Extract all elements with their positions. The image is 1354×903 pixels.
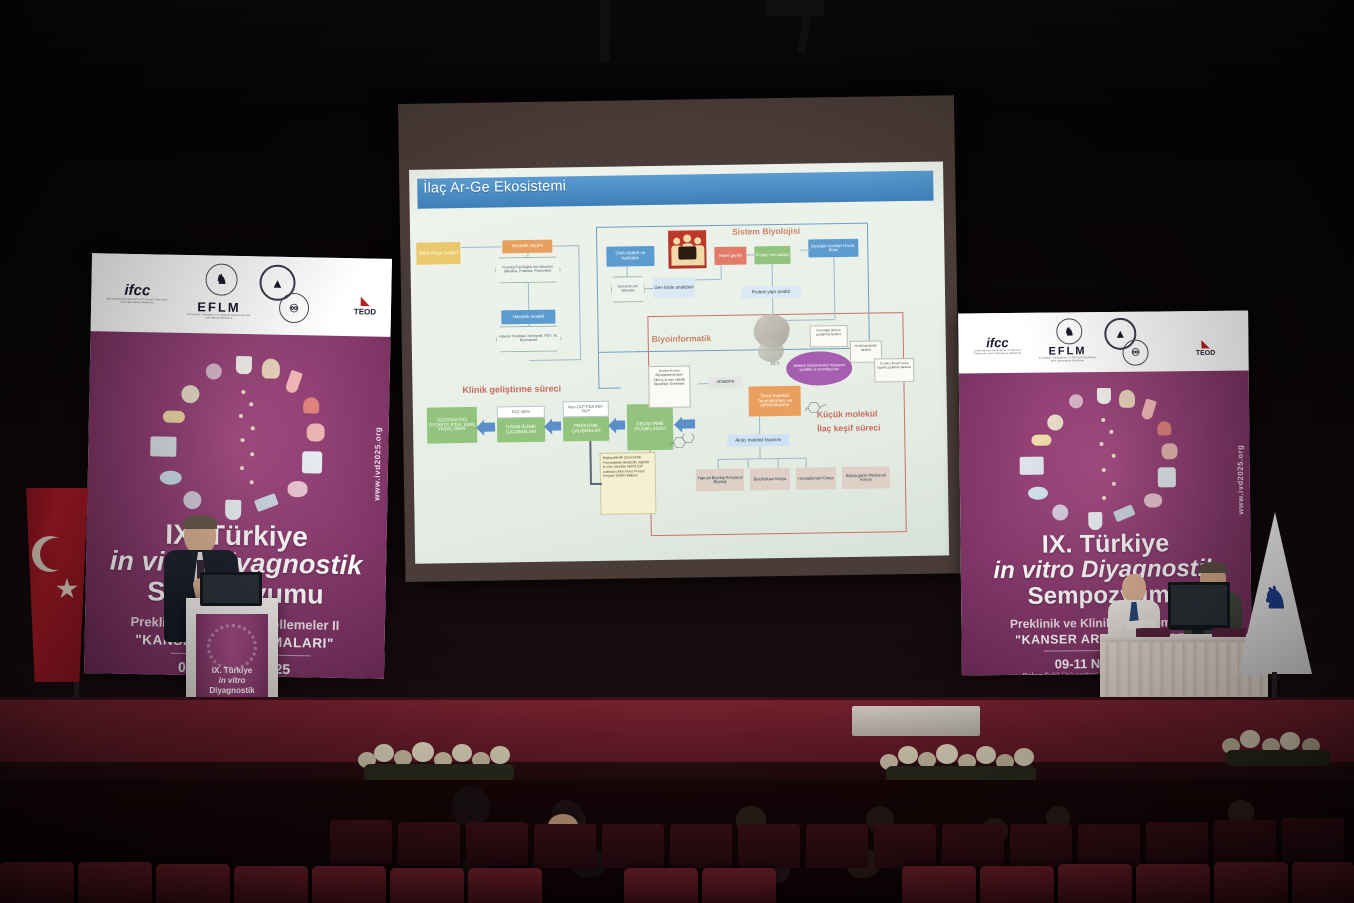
note-preklinik-properties: Başlayabilirlik Çözünürlük Permeabilite …	[600, 452, 657, 515]
biyokimya-logo: ♾	[1122, 340, 1148, 366]
node-protein-yapi: Protein yapı analizi	[741, 286, 801, 299]
seat	[156, 864, 230, 903]
arrow-left	[615, 420, 625, 429]
helix-dot	[240, 466, 244, 470]
connector	[806, 458, 807, 468]
seat	[942, 824, 1004, 868]
ring-icon-scientist	[1119, 390, 1135, 408]
university-horse-emblem: ♞	[1262, 584, 1289, 614]
protein-structure-blob-2	[758, 340, 784, 362]
note-invitro: İn vitro-İn vivo Biyoparametrelerin Klin…	[648, 365, 691, 408]
seat	[602, 824, 664, 868]
helix-dot	[1112, 482, 1116, 486]
helix-dot	[249, 402, 253, 406]
floral-arrangement-left	[354, 740, 524, 782]
flower	[452, 744, 472, 762]
helix-dot	[1102, 496, 1106, 500]
node-hastalik-modeli: Hastalık modeli	[501, 310, 555, 325]
foliage	[1226, 750, 1330, 766]
connector	[645, 288, 653, 289]
chair-woman-head	[1122, 574, 1146, 602]
connector	[778, 458, 779, 468]
flower	[490, 746, 510, 764]
ring-icon-atom	[183, 491, 201, 509]
connector	[627, 266, 628, 276]
seat	[806, 824, 868, 868]
flower	[1240, 730, 1260, 748]
ring-icon-testtube	[1140, 398, 1156, 420]
seat	[1214, 862, 1288, 903]
seat	[390, 868, 464, 903]
node-biyolojik-ornekler: Biyolojik örnekler Hücre, Doku	[808, 239, 858, 258]
teod-logo: ◣ TEOD	[347, 290, 384, 321]
seat	[234, 866, 308, 903]
bottom-box: Biyoorganik Medisinal Kimya	[842, 466, 890, 489]
teod-logo: ◣ TEOD	[1188, 335, 1222, 361]
bottom-box: Biyofiziksel Kimya	[750, 468, 790, 491]
ceiling-beam	[600, 0, 610, 62]
bottom-box: Yapısal Biyoloji Kimyasal Biyoloji	[696, 469, 744, 492]
seat	[1078, 824, 1140, 868]
flower	[976, 746, 996, 764]
hex-genomik: Genomik veri tabanları	[611, 276, 645, 303]
connector	[552, 245, 579, 246]
node-klinik-pazar: Klinik Pazar Değeri	[416, 242, 460, 265]
node-faz-label: FAZ I/II/III	[497, 406, 545, 419]
seat	[78, 862, 152, 903]
podium-sign-title-1: IX. Türkiye	[196, 666, 268, 675]
node-dna-dizileri: DNA dizileri ve haritaları	[606, 246, 654, 267]
seat	[902, 866, 976, 903]
seat	[534, 824, 596, 868]
connector	[529, 359, 581, 361]
arrow-left	[551, 421, 561, 430]
node-protein-veri: Protein Veri tabanı	[754, 246, 790, 265]
ceiling-beam	[766, 0, 824, 16]
podium-sign-icon-ring	[207, 624, 257, 670]
flower	[1280, 732, 1300, 750]
connector	[746, 254, 754, 255]
bottom-box: Hesaplamalı Kimya	[796, 467, 836, 490]
ring-icon-molecule	[1047, 414, 1063, 430]
floral-arrangement-far-right	[1218, 728, 1338, 766]
helix-dot	[241, 390, 245, 394]
helix-dot	[1109, 430, 1113, 434]
seat	[330, 820, 392, 864]
seat	[624, 868, 698, 903]
helix-dot	[1112, 454, 1116, 458]
eflm-logo: EFLM European Federation of Clinical Che…	[1036, 344, 1098, 365]
node-oncu-molekul: Öncü molekül Tanımlanması ve optimizasyo…	[748, 386, 800, 417]
dokuz-eylul-logo: ♞	[1056, 318, 1082, 344]
ring-icon-brain	[287, 481, 307, 497]
chair-man-hair	[1199, 562, 1227, 573]
banner-url: www.ivd2025.org	[1236, 445, 1246, 515]
connector	[528, 283, 529, 310]
biyokimya-logo: ♾	[279, 293, 310, 324]
seat	[1292, 862, 1354, 903]
helix-dot	[1102, 468, 1106, 472]
hex-hayvan: Hayvan modelleri Xenograft, PDX, vb. Biy…	[496, 325, 562, 352]
connector	[718, 459, 719, 469]
seat	[1136, 864, 1210, 903]
helix-dot	[239, 414, 243, 418]
helix-dot	[1099, 442, 1103, 446]
floral-arrangement-right	[876, 742, 1046, 784]
ring-icon-microscope	[1158, 467, 1176, 487]
ring-icon-lungs	[1161, 443, 1177, 459]
node-preklinik: PREKLİNİK ÇALIŞMALAR	[563, 417, 609, 442]
eflm-logo: EFLM European Federation of Clinical Che…	[183, 297, 255, 322]
connector	[589, 441, 592, 485]
node-non-glp: Non-GLP FDA IND-GLP	[563, 401, 609, 418]
podium-sign-title-2: in vitro	[196, 676, 268, 685]
ring-icon-pills	[163, 411, 185, 423]
ring-icon-atom	[1052, 504, 1068, 520]
podium-laptop-screen	[203, 575, 259, 603]
node-akilci-molekul: Akılcı molekül tasarımı	[727, 434, 789, 447]
ceiling	[0, 0, 1354, 110]
slide-title: İlaç Ar-Ge Ekosistemi	[423, 178, 566, 196]
seat	[1282, 818, 1344, 862]
projection-screen: İlaç Ar-Ge Ekosistemi Klinik Pazar Değer…	[398, 95, 961, 582]
ring-icon-eye	[1028, 487, 1048, 500]
seat	[1058, 864, 1132, 903]
research-team-photo-icon	[668, 230, 707, 269]
molecule-structure-icon-2	[805, 399, 829, 415]
ring-icon-computer	[1020, 457, 1044, 475]
ring-icon-pills	[1031, 435, 1051, 446]
ring-icon-flask	[1097, 388, 1111, 404]
banner-url: www.ivd2025.org	[372, 427, 382, 501]
ring-icon-scientist	[262, 358, 280, 378]
node-adme: ADME/FK	[708, 377, 742, 389]
label-biyoinformatik: Biyoinformatik	[652, 333, 712, 344]
nameplate-right	[1212, 628, 1246, 637]
banner-logo-strip: ifcc International Federation of Clinica…	[91, 253, 392, 337]
node-hedef-genler: Hedef genler	[714, 247, 746, 266]
flower	[898, 746, 918, 764]
ring-icon-heart	[1157, 421, 1171, 435]
stage-riser-box	[852, 706, 980, 736]
speaker-hair	[183, 515, 217, 529]
connector	[590, 483, 602, 485]
ring-icon-dna	[1069, 394, 1083, 408]
arrow-left	[681, 419, 695, 428]
connector	[748, 459, 749, 469]
helix-dot	[240, 438, 244, 442]
connector	[527, 253, 528, 258]
note-insilico: In silico Hedef veya ligand güdümlü tara…	[874, 358, 914, 383]
node-insan-klinik: İNSAN KLİNİK ÇALIŞMALARI	[497, 418, 545, 443]
seat	[398, 822, 460, 866]
podium-sign-title-3: Diyagnostik	[196, 686, 268, 695]
ring-icon-microscope	[302, 451, 322, 473]
node-dct: DCT	[766, 360, 784, 369]
seat	[312, 866, 386, 903]
conference-hall-photo: İlaç Ar-Ge Ekosistemi Klinik Pazar Değer…	[0, 0, 1354, 903]
ring-icon-testtube	[284, 370, 303, 395]
star-shape	[56, 578, 78, 600]
note-fenotipik: Fenotipik (Hücre güdümlü) tarama	[810, 325, 848, 348]
crescent-cutout	[40, 538, 72, 570]
ring-icon-eye	[160, 471, 182, 485]
seat	[874, 824, 936, 868]
seat	[468, 868, 542, 903]
ring-icon-lungs	[306, 423, 324, 441]
flower	[374, 744, 394, 762]
ring-icon-beaker	[1088, 512, 1102, 530]
nameplate-left	[1136, 628, 1170, 637]
molecule-structure-icon	[669, 433, 695, 451]
ring-icon-heart	[303, 397, 319, 413]
flower	[1014, 748, 1034, 766]
seat	[0, 862, 74, 903]
connector	[578, 245, 580, 359]
seat	[1214, 820, 1276, 864]
dokuz-eylul-logo: ♞	[205, 263, 238, 296]
ring-icon-flask	[236, 356, 252, 374]
ring-icon-brain	[1144, 493, 1162, 507]
helix-dot	[250, 480, 254, 484]
panel-monitor-screen	[1171, 585, 1227, 625]
node-duzenleyici-otorite: DÜZENLEYİCİ OTORİTE (FDA, EMA) YASAL ONA…	[427, 407, 478, 444]
slide-surface: İlaç Ar-Ge Ekosistemi Klinik Pazar Değer…	[409, 161, 949, 563]
ring-icon-dna	[206, 363, 222, 379]
seat	[1010, 824, 1072, 868]
turkish-flag	[26, 488, 88, 682]
helix-dot	[1101, 418, 1105, 422]
flower	[412, 742, 434, 762]
ifcc-logo: ifcc International Federation of Clinica…	[105, 275, 170, 310]
ring-icon-molecule	[181, 385, 199, 403]
audience-head	[452, 786, 490, 826]
node-gen-ifade: Gen ifade analizleri	[653, 277, 695, 298]
seat	[980, 866, 1054, 903]
bioinfo-panel-ext	[598, 353, 621, 389]
banner-logo-strip-right: ifcc International Federation of Clinica…	[958, 310, 1249, 373]
seat	[1146, 822, 1208, 866]
ring-icon-computer	[150, 436, 176, 456]
seat	[702, 868, 776, 903]
node-hastalik-secimi: Hastalık seçimi	[502, 240, 552, 254]
connector	[800, 250, 810, 251]
seat	[670, 824, 732, 868]
label-klinik-gelistirme: Klinik geliştirme süreci	[462, 383, 561, 395]
arrow-left	[483, 423, 495, 432]
helix-dot	[250, 452, 254, 456]
ring-icon-syringe	[254, 493, 279, 512]
label-kucuk-molekul-2: İlaç keşif süreci	[817, 422, 880, 433]
seat	[738, 824, 800, 868]
seat	[466, 822, 528, 866]
hex-fizyoloji: Fizyoloji/Tıp/Sağlık veri tabanları (Med…	[494, 256, 560, 283]
flower	[936, 744, 958, 764]
helix-dot	[251, 426, 255, 430]
ring-icon-syringe	[1113, 504, 1136, 522]
label-sistem-biyolojisi: Sistem Biyolojisi	[732, 226, 800, 237]
ifcc-logo: ifcc International Federation of Clinica…	[968, 331, 1026, 360]
node-gelistirme-adayi: GELİŞTİRME (KLİNİK) ADAYI	[627, 404, 674, 451]
connector	[528, 324, 529, 327]
connector	[461, 246, 501, 247]
